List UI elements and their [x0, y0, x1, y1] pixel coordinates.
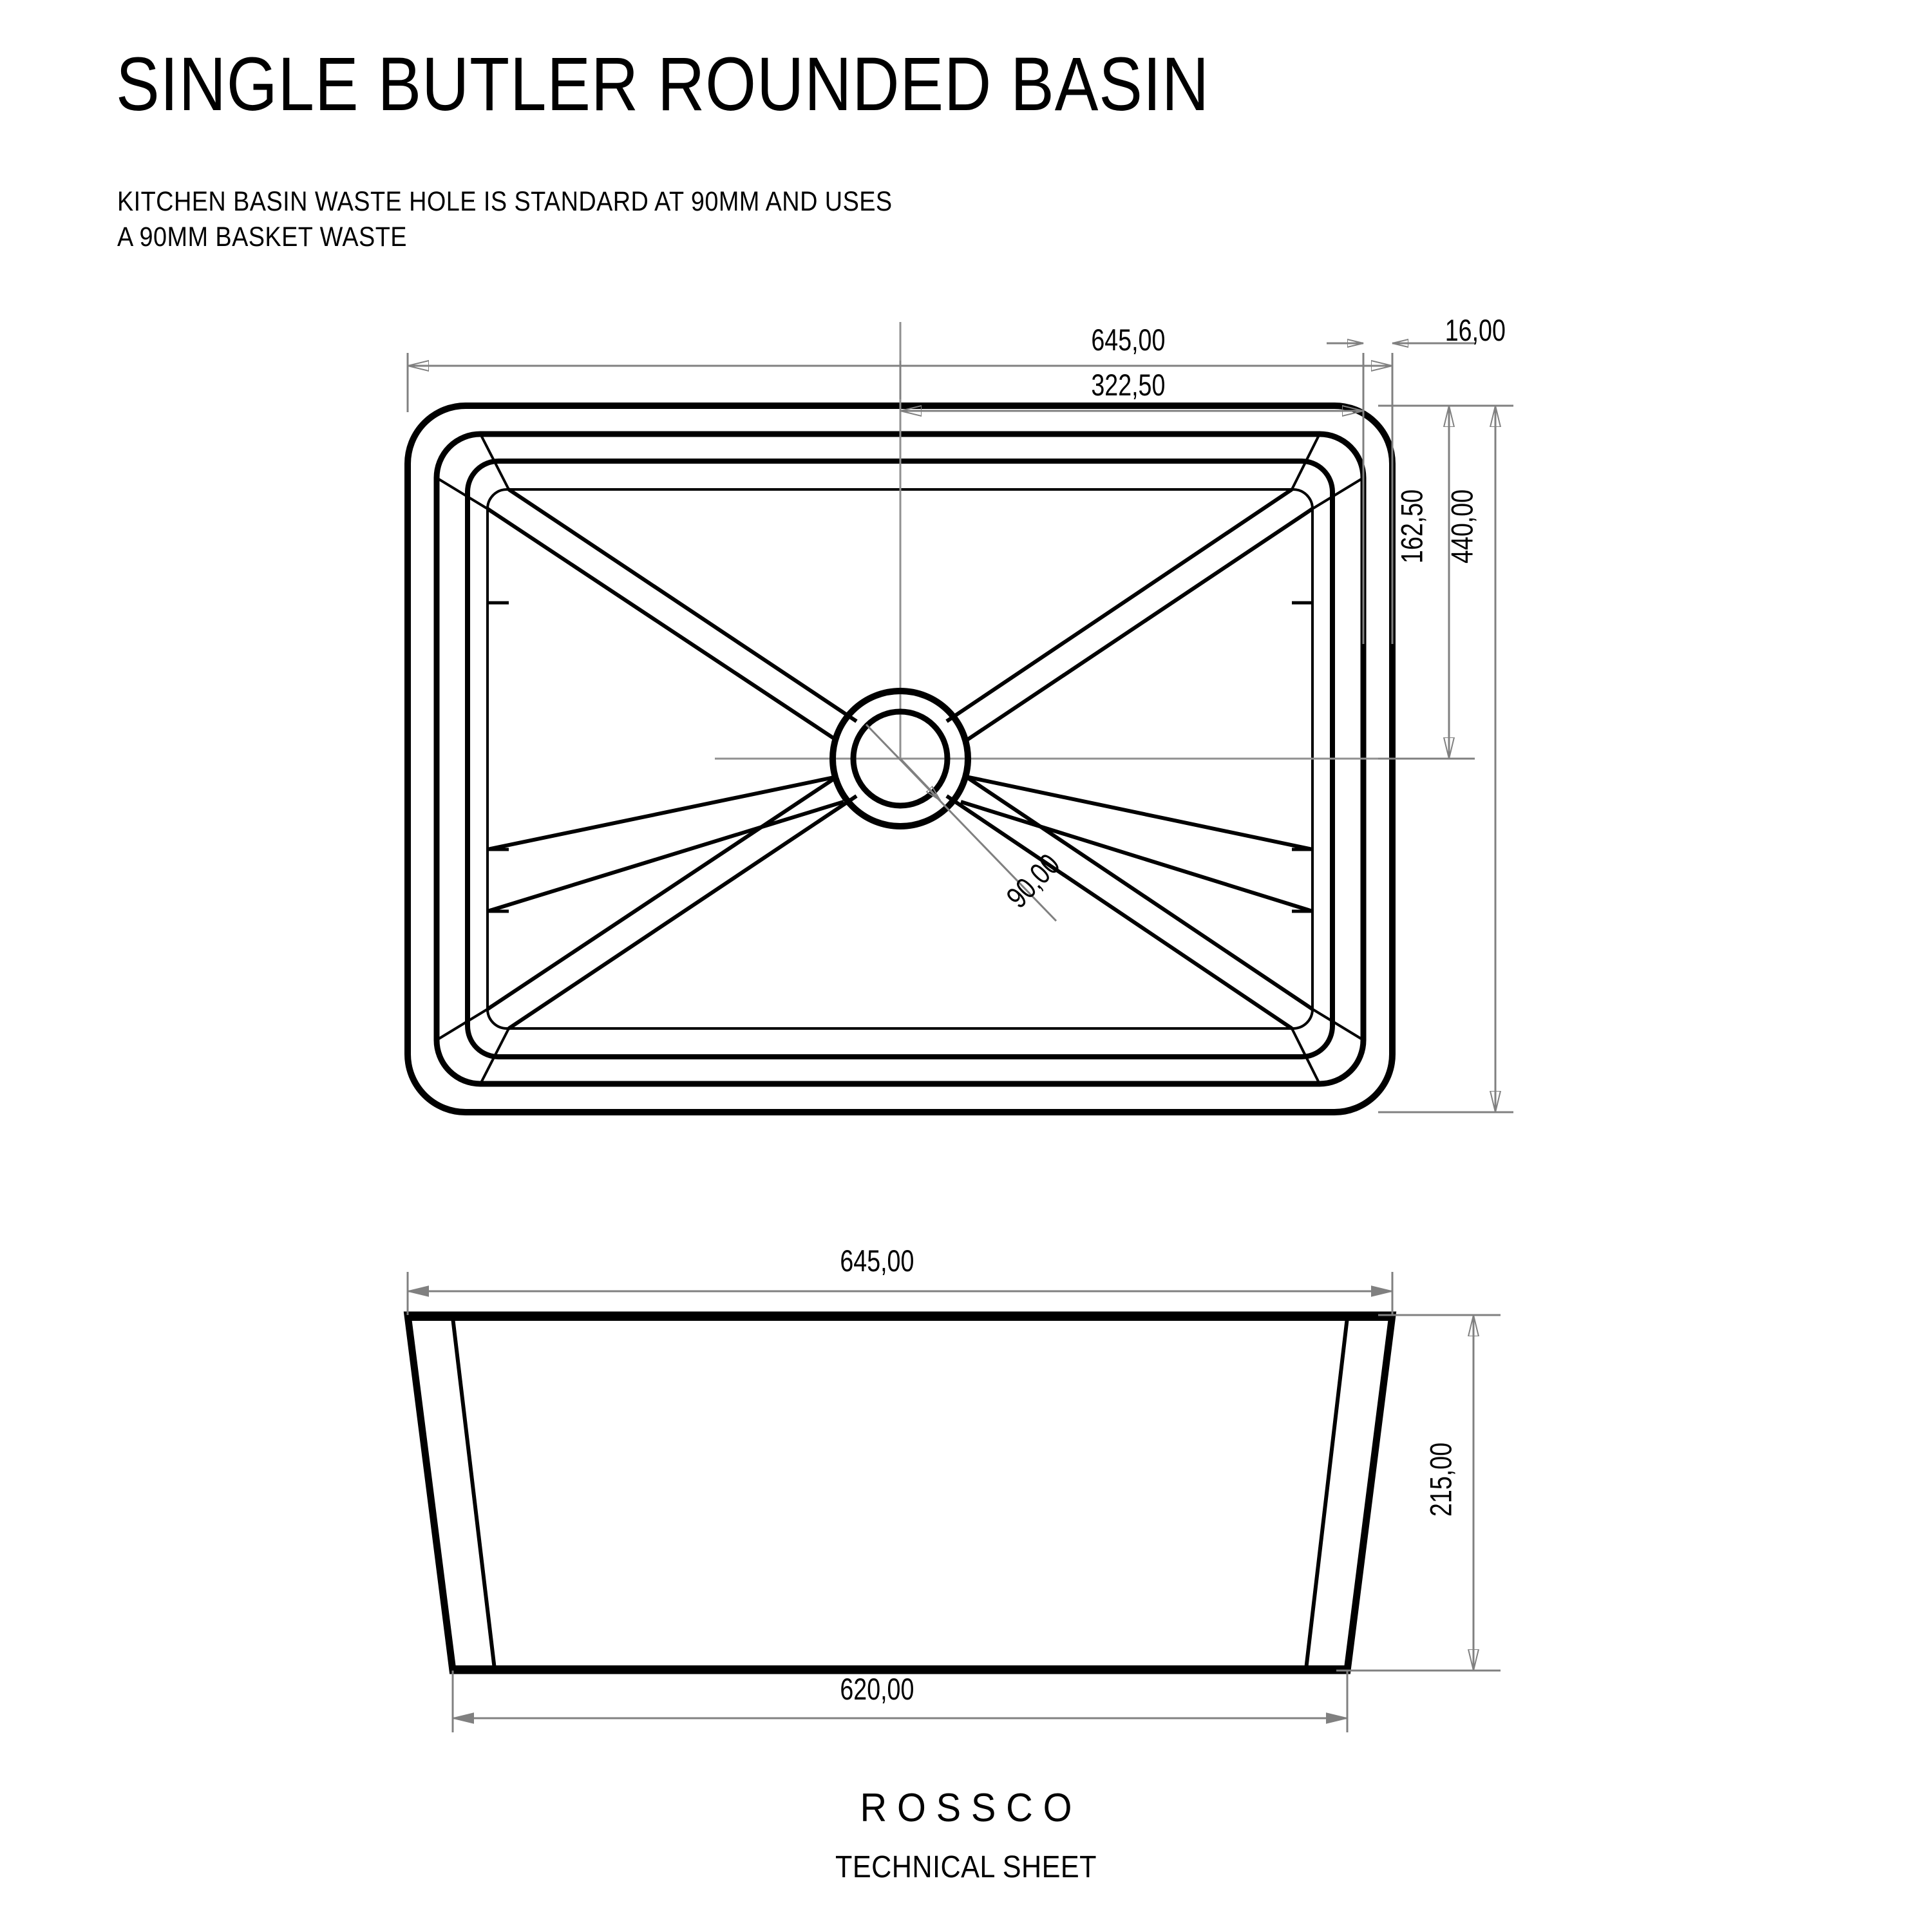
- elevation-dimension-lines: [408, 1272, 1501, 1732]
- dim-label-plan-centerheight-162: 162,50: [1394, 480, 1429, 573]
- dim-label-elev-topwidth-645: 645,00: [831, 1243, 923, 1278]
- elevation-view: [408, 1315, 1392, 1671]
- dim-label-plan-depth-440: 440,00: [1444, 480, 1479, 573]
- technical-drawing: [0, 0, 1932, 1932]
- dim-label-plan-halfwidth-322: 322,50: [1082, 367, 1175, 402]
- sheet-label: TECHNICAL SHEET: [97, 1850, 1835, 1885]
- technical-sheet: SINGLE BUTLER ROUNDED BASIN KITCHEN BASI…: [0, 0, 1932, 1932]
- dim-label-plan-width-645: 645,00: [1082, 322, 1175, 357]
- dim-label-elev-height-215: 215,00: [1423, 1434, 1458, 1526]
- dim-label-elev-bottomwidth-620: 620,00: [831, 1671, 923, 1707]
- dim-label-plan-rim-16: 16,00: [1437, 312, 1513, 348]
- elev-outer-outline: [408, 1315, 1392, 1671]
- brand-name: ROSSCO: [68, 1785, 1864, 1831]
- plan-slope-diagonals-lower: [488, 777, 1312, 911]
- plan-view: [408, 322, 1472, 1112]
- elev-inner-wall-lines: [453, 1318, 1347, 1669]
